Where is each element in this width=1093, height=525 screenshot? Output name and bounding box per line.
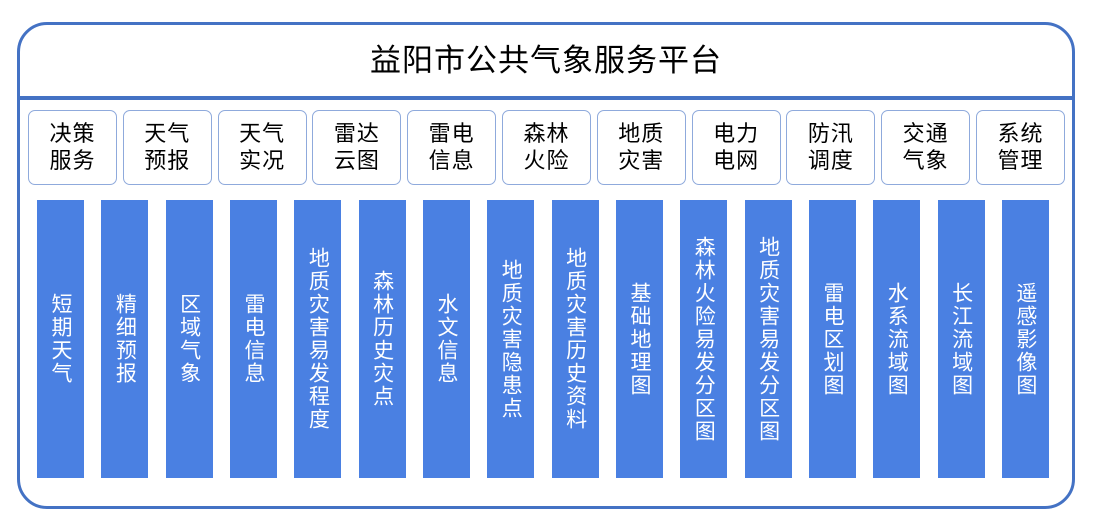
layer-bar-geological-hazard-points[interactable]: 地质灾害隐患点 — [487, 200, 534, 478]
layer-bar-regional-meteorology[interactable]: 区域气象 — [166, 200, 213, 478]
menu-item-label-line2: 灾害 — [618, 148, 664, 175]
menu-item-label-line1: 森林 — [523, 121, 569, 148]
main-menu: 决策 服务 天气 预报 天气 实况 雷达 云图 雷电 信息 森林 火险 地质 灾… — [28, 110, 1065, 185]
layer-bar-label: 森林历史灾点 — [370, 270, 395, 408]
menu-item-label-line1: 天气 — [239, 121, 285, 148]
title-band: 益阳市公共气象服务平台 — [20, 25, 1072, 98]
layer-bar-label: 雷电区划图 — [820, 282, 845, 397]
menu-item-label-line1: 天气 — [144, 121, 190, 148]
layer-bar-short-term-weather[interactable]: 短期天气 — [37, 200, 84, 478]
title-divider — [18, 96, 1074, 100]
layer-bar-label: 遥感影像图 — [1013, 282, 1038, 397]
menu-item-label-line1: 防汛 — [808, 121, 854, 148]
menu-item-lightning-info[interactable]: 雷电 信息 — [407, 110, 496, 185]
menu-item-system-management[interactable]: 系统 管理 — [976, 110, 1065, 185]
layer-bar-hydrological-info[interactable]: 水文信息 — [423, 200, 470, 478]
layer-bar-label: 精细预报 — [112, 293, 137, 385]
menu-item-label-line2: 电网 — [713, 148, 759, 175]
menu-item-label-line2: 预报 — [144, 148, 190, 175]
menu-item-weather-forecast[interactable]: 天气 预报 — [123, 110, 212, 185]
layer-bar-label: 地质灾害易发程度 — [305, 247, 330, 431]
layer-bar-label: 水文信息 — [434, 293, 459, 385]
layer-bar-label: 地质灾害隐患点 — [498, 259, 523, 420]
layer-bar-remote-sensing-image-map[interactable]: 遥感影像图 — [1002, 200, 1049, 478]
layer-bar-yangtze-basin-map[interactable]: 长江流域图 — [938, 200, 985, 478]
layer-bar-label: 地质灾害历史资料 — [563, 247, 588, 431]
menu-item-label-line2: 管理 — [997, 148, 1043, 175]
menu-item-label-line2: 气象 — [903, 148, 949, 175]
layer-bar-lightning-info[interactable]: 雷电信息 — [230, 200, 277, 478]
menu-item-geological-disaster[interactable]: 地质 灾害 — [597, 110, 686, 185]
menu-item-radar-cloud-map[interactable]: 雷达 云图 — [312, 110, 401, 185]
layer-bar-forest-historical-disaster-points[interactable]: 森林历史灾点 — [359, 200, 406, 478]
menu-item-label-line1: 电力 — [713, 121, 759, 148]
layer-bar-forest-fire-risk-zoning-map[interactable]: 森林火险易发分区图 — [680, 200, 727, 478]
layer-bar-base-geographic-map[interactable]: 基础地理图 — [616, 200, 663, 478]
layer-bar-lightning-zoning-map[interactable]: 雷电区划图 — [809, 200, 856, 478]
menu-item-label-line2: 火险 — [523, 148, 569, 175]
menu-item-power-grid[interactable]: 电力 电网 — [692, 110, 781, 185]
layer-bar-geological-disaster-susceptibility[interactable]: 地质灾害易发程度 — [294, 200, 341, 478]
menu-item-weather-live[interactable]: 天气 实况 — [218, 110, 307, 185]
layer-bar-label: 基础地理图 — [627, 282, 652, 397]
menu-item-label-line1: 雷电 — [429, 121, 475, 148]
menu-item-label-line1: 系统 — [997, 121, 1043, 148]
menu-item-label-line2: 调度 — [808, 148, 854, 175]
layer-bar-geological-disaster-history[interactable]: 地质灾害历史资料 — [552, 200, 599, 478]
layer-bar-label: 短期天气 — [48, 293, 73, 385]
menu-item-label-line1: 雷达 — [334, 121, 380, 148]
menu-item-traffic-weather[interactable]: 交通 气象 — [881, 110, 970, 185]
layer-bar-label: 雷电信息 — [241, 293, 266, 385]
layer-bar-label: 区域气象 — [177, 293, 202, 385]
layer-bar-label: 森林火险易发分区图 — [691, 236, 716, 443]
menu-item-label-line1: 地质 — [618, 121, 664, 148]
menu-item-label-line2: 信息 — [429, 148, 475, 175]
menu-item-label-line2: 云图 — [334, 148, 380, 175]
platform-dashboard: 益阳市公共气象服务平台 决策 服务 天气 预报 天气 实况 雷达 云图 雷电 信… — [0, 0, 1093, 525]
menu-item-decision-service[interactable]: 决策 服务 — [28, 110, 117, 185]
layer-bar-fine-forecast[interactable]: 精细预报 — [101, 200, 148, 478]
layer-bar-list: 短期天气 精细预报 区域气象 雷电信息 地质灾害易发程度 森林历史灾点 水文信息… — [37, 200, 1049, 478]
layer-bar-label: 水系流域图 — [884, 282, 909, 397]
layer-bar-label: 地质灾害易发分区图 — [756, 236, 781, 443]
menu-item-label-line1: 决策 — [49, 121, 95, 148]
layer-bar-water-system-basin-map[interactable]: 水系流域图 — [873, 200, 920, 478]
menu-item-label-line2: 实况 — [239, 148, 285, 175]
layer-bar-label: 长江流域图 — [949, 282, 974, 397]
menu-item-forest-fire-risk[interactable]: 森林 火险 — [502, 110, 591, 185]
menu-item-flood-control[interactable]: 防汛 调度 — [786, 110, 875, 185]
menu-item-label-line2: 服务 — [49, 148, 95, 175]
page-title: 益阳市公共气象服务平台 — [370, 46, 722, 77]
menu-item-label-line1: 交通 — [903, 121, 949, 148]
layer-bar-geological-disaster-zoning-map[interactable]: 地质灾害易发分区图 — [745, 200, 792, 478]
